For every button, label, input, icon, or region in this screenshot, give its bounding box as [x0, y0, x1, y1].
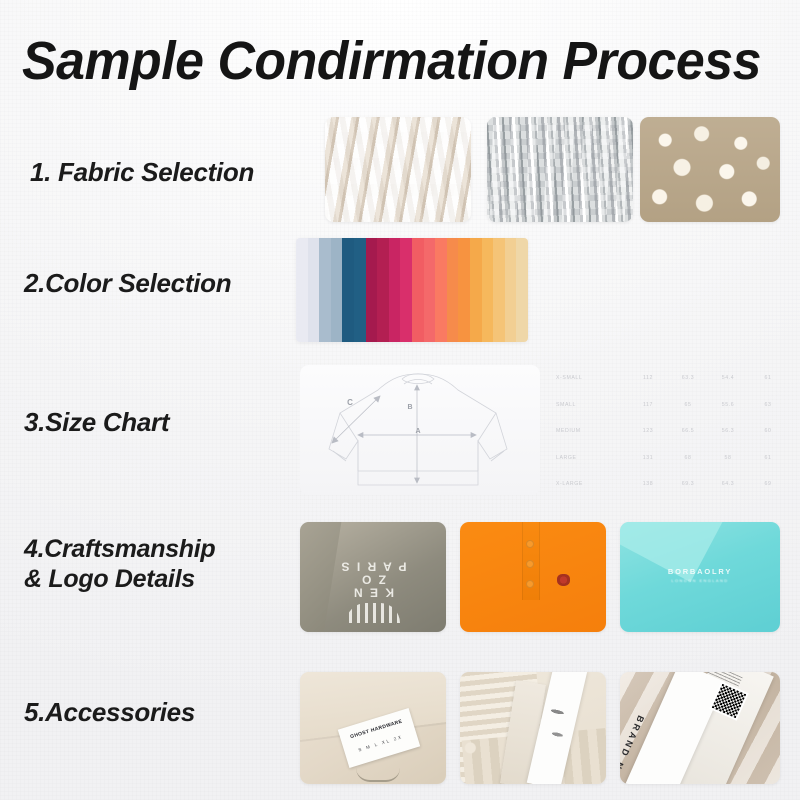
color-swatch[interactable]	[319, 238, 331, 342]
color-swatch[interactable]	[493, 238, 505, 342]
size-name-cell: MEDIUM	[556, 428, 628, 434]
step-label-craftsmanship-line1: 4.Craftsmanship	[24, 535, 289, 565]
size-value-cell: 61	[748, 375, 788, 381]
color-swatch[interactable]	[400, 238, 412, 342]
color-swatch[interactable]	[447, 238, 459, 342]
color-swatch[interactable]	[516, 238, 528, 342]
size-name-cell: X-SMALL	[556, 375, 628, 381]
size-value-cell: 60	[748, 428, 788, 434]
drawstring-cord	[356, 768, 400, 782]
color-swatch[interactable]	[377, 238, 389, 342]
color-swatch[interactable]	[366, 238, 378, 342]
size-value-cell: 64.3	[708, 481, 748, 487]
step-label-size-chart: 3.Size Chart	[24, 407, 169, 438]
size-chart-table: X-SMALL11263.354.461SMALL1176555.663MEDI…	[556, 368, 788, 494]
color-swatch[interactable]	[308, 238, 320, 342]
size-value-cell: 63	[748, 402, 788, 408]
print-logo-text: K E NZ OP A R I S	[340, 560, 407, 599]
craft-photo-printed-logo[interactable]: K E NZ OP A R I S	[300, 522, 446, 632]
table-row: X-SMALL11263.354.461	[556, 368, 788, 388]
accessory-photo-hang-tags[interactable]	[460, 672, 606, 784]
size-value-cell: 123	[628, 428, 668, 434]
color-swatch[interactable]	[354, 238, 366, 342]
teal-brand-subtitle: LONDON ENGLAND	[668, 578, 732, 583]
fabric-swatch-pleated-wave[interactable]	[487, 117, 633, 222]
accessory-photo-brand-tag[interactable]: BRAND NAME	[620, 672, 780, 784]
sweater-technical-drawing: A B C	[300, 363, 550, 498]
size-value-cell: 69	[748, 481, 788, 487]
teal-brand-print: BORBAOLRY LONDON ENGLAND	[668, 567, 732, 583]
table-row: LARGE131685861	[556, 448, 788, 468]
size-value-cell: 69.3	[668, 481, 708, 487]
size-name-cell: LARGE	[556, 455, 628, 461]
size-name-cell: SMALL	[556, 402, 628, 408]
svg-text:B: B	[407, 404, 412, 411]
size-value-cell: 66.5	[668, 428, 708, 434]
size-value-cell: 131	[628, 455, 668, 461]
color-swatch[interactable]	[505, 238, 517, 342]
polo-button	[526, 540, 534, 548]
color-swatch[interactable]	[424, 238, 436, 342]
print-logo-rays	[346, 603, 400, 623]
polo-button	[526, 580, 534, 588]
table-row: MEDIUM12366.556.360	[556, 421, 788, 441]
teal-brand-name: BORBAOLRY	[668, 567, 732, 576]
size-value-cell: 65	[668, 402, 708, 408]
size-value-cell: 63.3	[668, 375, 708, 381]
size-value-cell: 55.6	[708, 402, 748, 408]
step-label-craftsmanship-line2: & Logo Details	[24, 565, 289, 595]
size-name-cell: X-LARGE	[556, 481, 628, 487]
color-swatch[interactable]	[389, 238, 401, 342]
garment-seam	[300, 522, 342, 632]
step-label-accessories: 5.Accessories	[24, 697, 195, 728]
size-value-cell: 54.4	[708, 375, 748, 381]
size-value-cell: 56.3	[708, 428, 748, 434]
size-value-cell: 61	[748, 455, 788, 461]
table-row: SMALL1176555.663	[556, 395, 788, 415]
color-swatch[interactable]	[331, 238, 343, 342]
color-swatch[interactable]	[435, 238, 447, 342]
size-value-cell: 68	[668, 455, 708, 461]
size-value-cell: 112	[628, 375, 668, 381]
poster-root: Sample Condirmation Process 1. Fabric Se…	[0, 0, 800, 800]
size-value-cell: 58	[708, 455, 748, 461]
fabric-swatch-boucle-sherpa[interactable]	[640, 117, 780, 222]
svg-text:C: C	[347, 398, 353, 407]
page-title: Sample Condirmation Process	[22, 30, 752, 92]
step-label-color-selection: 2.Color Selection	[24, 268, 231, 299]
accessory-photo-care-label[interactable]: GHOST HARDWARE S M L XL 2X	[300, 672, 446, 784]
craft-photo-teal-shirt[interactable]: BORBAOLRY LONDON ENGLAND	[620, 522, 780, 632]
color-palette-strip[interactable]	[296, 238, 528, 342]
craft-photo-orange-polo[interactable]	[460, 522, 606, 632]
color-swatch[interactable]	[470, 238, 482, 342]
polo-button	[526, 560, 534, 568]
svg-text:A: A	[415, 428, 420, 435]
color-swatch[interactable]	[482, 238, 494, 342]
color-swatch[interactable]	[458, 238, 470, 342]
fabric-swatch-chunky-knit[interactable]	[325, 117, 471, 222]
embroidered-logo-icon	[557, 574, 570, 586]
step-label-craftsmanship: 4.Craftsmanship & Logo Details	[24, 535, 289, 594]
size-value-cell: 138	[628, 481, 668, 487]
color-swatch[interactable]	[342, 238, 354, 342]
color-swatch[interactable]	[296, 238, 308, 342]
step-label-fabric-selection: 1. Fabric Selection	[30, 157, 254, 188]
size-value-cell: 117	[628, 402, 668, 408]
color-swatch[interactable]	[412, 238, 424, 342]
table-row: X-LARGE13869.364.369	[556, 474, 788, 494]
